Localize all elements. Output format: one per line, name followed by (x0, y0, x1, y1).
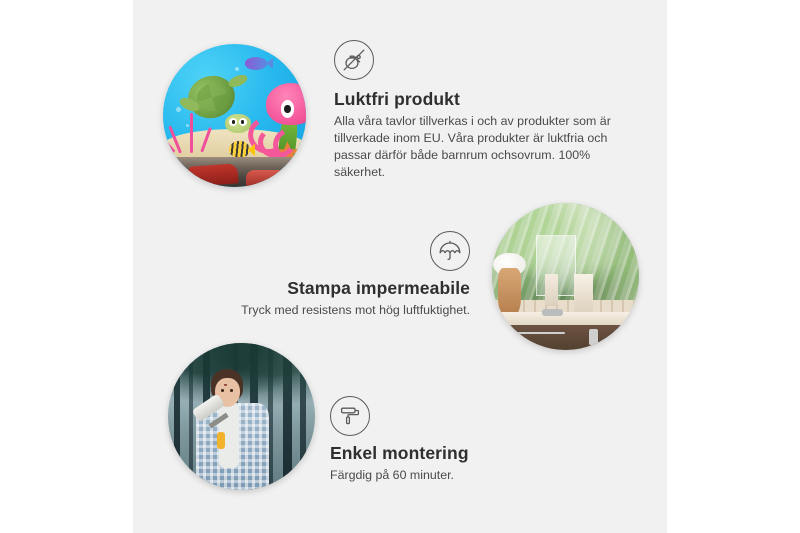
feature-block-stampa-impermeabile: Stampa impermeabile Tryck med resistens … (212, 231, 470, 319)
room-strip (163, 157, 306, 187)
umbrella-icon (430, 231, 470, 271)
feature-title: Stampa impermeabile (212, 277, 470, 299)
feature-description: Alla våra tavlor tillverkas i och av pro… (334, 113, 634, 181)
no-fragrance-icon (334, 40, 374, 80)
soap-dispenser (545, 274, 558, 306)
vanity-cabinet (492, 325, 639, 350)
faucet-icon (542, 309, 563, 316)
feature-block-enkel-montering: Enkel montering Färgdig på 60 minuter. (330, 396, 580, 484)
turtle-icon (183, 73, 249, 130)
underwater-cartoon-photo[interactable] (163, 44, 306, 187)
paint-roller-icon (330, 396, 370, 436)
woman-with-roller-forest-photo[interactable] (168, 343, 315, 490)
feature-description: Tryck med resistens mot hög luftfuktighe… (212, 302, 470, 319)
feature-block-luktfri-produkt: Luktfri produkt Alla våra tavlor tillver… (334, 40, 634, 181)
feature-description: Färgdig på 60 minuter. (330, 467, 580, 484)
woman-figure (194, 369, 270, 490)
purple-fish-icon (245, 57, 268, 70)
countertop (492, 312, 639, 325)
octopus-icon (252, 83, 306, 152)
screenshot-root: Luktfri produkt Alla våra tavlor tillver… (0, 0, 800, 533)
bubble-icon (235, 67, 239, 71)
vase (498, 268, 522, 318)
towel (574, 274, 593, 312)
feature-title: Luktfri produkt (334, 88, 634, 110)
bubble-icon (176, 107, 181, 112)
feature-title: Enkel montering (330, 442, 580, 464)
bathroom-botanical-wallpaper-photo[interactable] (492, 203, 639, 350)
